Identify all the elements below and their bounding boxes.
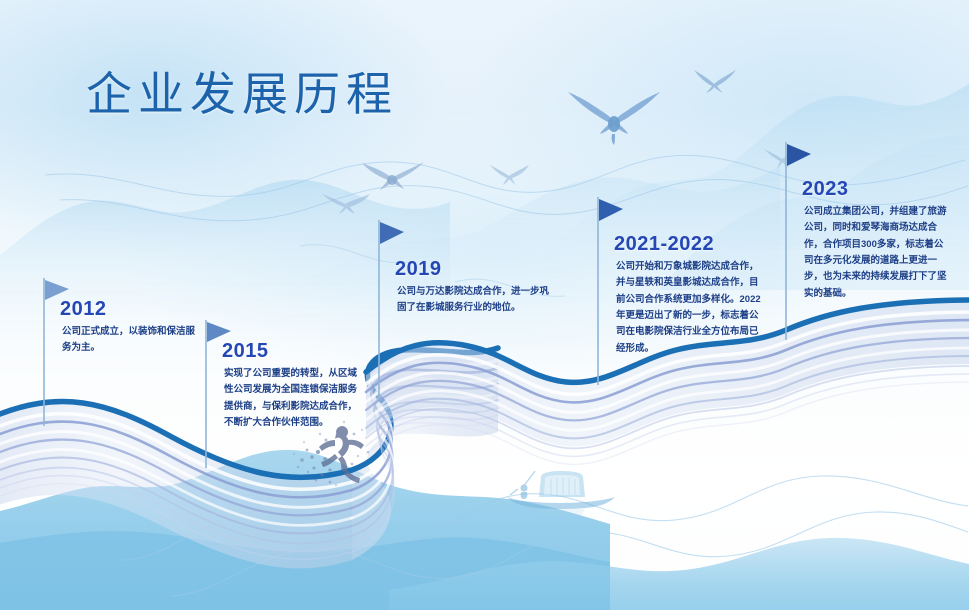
seagull-icon (318, 190, 372, 216)
seagull-icon (487, 162, 531, 188)
milestone-year: 2012 (60, 298, 107, 321)
seagull-icon (566, 88, 662, 150)
milestone-description: 公司成立集团公司，并组建了旅游公司，同时和爱琴海商场达成合作，合作项目300多家… (804, 204, 950, 302)
page-title: 企业发展历程 (86, 58, 398, 124)
mountain-wash-bottom-right (389, 440, 969, 610)
milestone-year: 2021-2022 (614, 233, 714, 256)
milestone-year: 2019 (395, 258, 442, 281)
milestone-description: 实现了公司重要的转型，从区域性公司发展为全国连锁保洁服务提供商，与保利影院达成合… (224, 366, 359, 431)
milestone-year: 2015 (222, 340, 269, 363)
milestone-description: 公司开始和万象城影院达成合作，并与星轶和英皇影城达成合作，目前公司合作系统更加多… (616, 259, 763, 357)
mountain-wash-bottom-left (0, 420, 610, 610)
fishing-boat-icon (495, 459, 625, 519)
milestone-description: 公司正式成立，以装饰和保洁服务为主。 (62, 324, 202, 357)
milestone-year: 2023 (802, 178, 849, 201)
seagull-icon (688, 66, 740, 98)
milestone-description: 公司与万达影院达成合作，进一步巩固了在影城服务行业的地位。 (397, 284, 549, 317)
timeline-poster: 2012 公司正式成立，以装饰和保洁服务为主。 2015 实现了公司重要的转型，… (0, 0, 969, 610)
seagull-icon (352, 156, 430, 198)
